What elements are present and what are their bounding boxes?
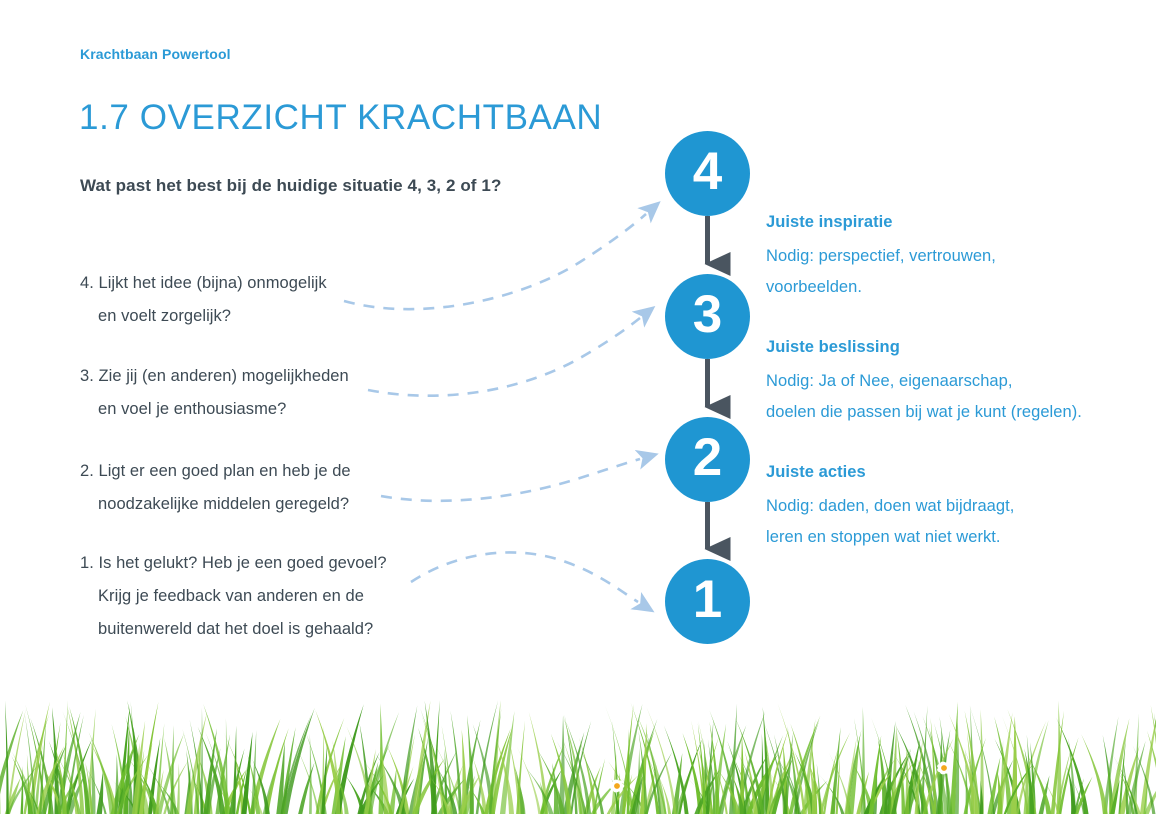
description-heading: Juiste acties [766, 457, 1014, 488]
question-line: 4. Lijkt het idee (bijna) onmogelijk [80, 267, 327, 300]
question-item-2: 2. Ligt er een goed plan en heb je de no… [80, 455, 351, 521]
dashed-arrow-to-4 [344, 214, 646, 309]
page-subtitle: Wat past het best bij de huidige situati… [80, 176, 501, 196]
question-line: noodzakelijke middelen geregeld? [80, 488, 351, 521]
description-line: leren en stoppen wat niet werkt. [766, 522, 1014, 553]
description-heading: Juiste inspiratie [766, 207, 996, 238]
flow-node-label: 3 [693, 288, 722, 341]
brand-kicker: Krachtbaan Powertool [80, 46, 231, 62]
question-line: en voelt zorgelijk? [80, 300, 327, 333]
question-line: buitenwereld dat het doel is gehaald? [80, 613, 387, 646]
grass-blade [176, 763, 179, 814]
question-line: Krijg je feedback van anderen en de [80, 580, 387, 613]
description-block-acties: Juiste acties Nodig: daden, doen wat bij… [766, 457, 1014, 553]
grass-blade [241, 732, 252, 814]
slide-page: Krachtbaan Powertool 1.7 OVERZICHT KRACH… [0, 0, 1156, 814]
dashed-arrow-to-2 [381, 459, 640, 501]
description-heading: Juiste beslissing [766, 332, 1082, 363]
flow-node-2[interactable]: 2 [665, 417, 750, 502]
description-block-inspiratie: Juiste inspiratie Nodig: perspectief, ve… [766, 207, 996, 303]
description-block-beslissing: Juiste beslissing Nodig: Ja of Nee, eige… [766, 332, 1082, 428]
grass-blade [861, 707, 865, 814]
dashed-arrow-to-3 [368, 318, 640, 396]
flow-node-label: 1 [693, 573, 722, 626]
description-line: Nodig: perspectief, vertrouwen, [766, 241, 996, 272]
daisy-center [614, 783, 620, 789]
flow-node-4[interactable]: 4 [665, 131, 750, 216]
description-line: Nodig: daden, doen wat bijdraagt, [766, 491, 1014, 522]
description-line: Nodig: Ja of Nee, eigenaarschap, [766, 366, 1082, 397]
daisy-flower [610, 780, 624, 793]
question-line: en voel je enthousiasme? [80, 393, 349, 426]
description-line: doelen die passen bij wat je kunt (regel… [766, 397, 1082, 428]
flow-node-label: 4 [693, 145, 722, 198]
daisy-center [941, 765, 947, 771]
grass-blade [1058, 737, 1078, 814]
question-line: 3. Zie jij (en anderen) mogelijkheden [80, 360, 349, 393]
flow-node-label: 2 [693, 431, 722, 484]
question-line: 1. Is het gelukt? Heb je een goed gevoel… [80, 547, 387, 580]
flow-node-1[interactable]: 1 [665, 559, 750, 644]
flow-node-3[interactable]: 3 [665, 274, 750, 359]
question-item-4: 4. Lijkt het idee (bijna) onmogelijk en … [80, 267, 327, 333]
question-item-1: 1. Is het gelukt? Heb je een goed gevoel… [80, 547, 387, 646]
description-line: voorbeelden. [766, 272, 996, 303]
question-line: 2. Ligt er een goed plan en heb je de [80, 455, 351, 488]
grass-blade [96, 772, 103, 814]
dashed-arrow-to-1 [411, 552, 638, 602]
grass-illustration [0, 674, 1156, 814]
page-title: 1.7 OVERZICHT KRACHTBAAN [79, 98, 602, 138]
question-item-3: 3. Zie jij (en anderen) mogelijkheden en… [80, 360, 349, 426]
